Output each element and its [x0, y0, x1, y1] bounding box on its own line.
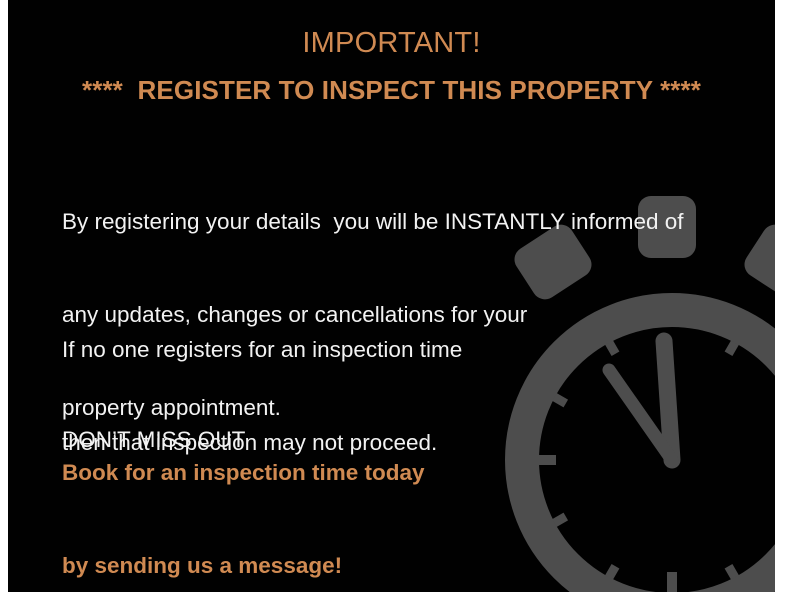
call-to-action-line-1: Book for an inspection time today — [62, 457, 425, 488]
headline-important: IMPORTANT! — [8, 27, 775, 60]
call-to-action: Book for an inspection time today by sen… — [62, 395, 425, 592]
poster-slide: IMPORTANT! **** REGISTER TO INSPECT THIS… — [0, 0, 800, 600]
poster-copy: IMPORTANT! **** REGISTER TO INSPECT THIS… — [8, 0, 775, 592]
call-to-action-line-2: by sending us a message! — [62, 550, 425, 581]
paragraph-registering-line-1: By registering your details you will be … — [62, 206, 684, 237]
paragraph-no-registration-line-1: If no one registers for an inspection ti… — [62, 334, 462, 365]
headline-register: **** REGISTER TO INSPECT THIS PROPERTY *… — [8, 76, 775, 106]
poster-panel: IMPORTANT! **** REGISTER TO INSPECT THIS… — [8, 0, 775, 592]
